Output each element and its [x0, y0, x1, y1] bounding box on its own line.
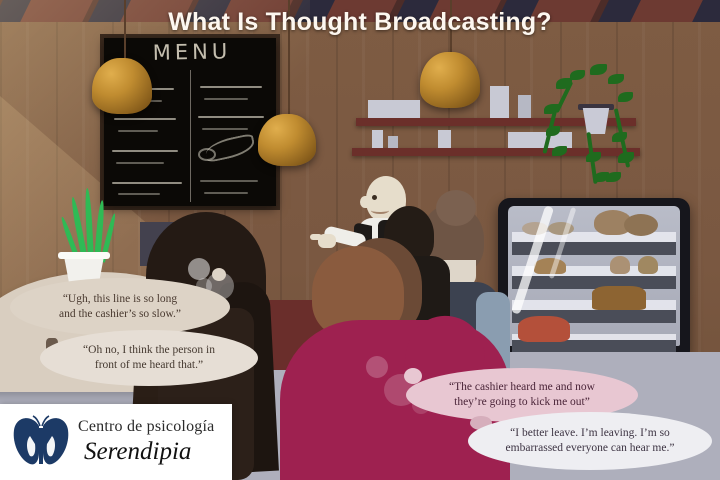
bubble-2-line-1: “Oh no, I think the person in	[83, 343, 215, 358]
shelf-jar-3	[372, 130, 383, 148]
shelf-jar-1	[490, 86, 509, 118]
logo-line-2: Serendipia	[84, 438, 191, 466]
pendant-lamp-3	[420, 52, 480, 108]
speech-bubble-2: “Oh no, I think the person in front of m…	[40, 330, 258, 386]
pastry-item	[638, 256, 658, 274]
shelf-jar-2	[518, 95, 531, 118]
speech-bubble-1: “Ugh, this line is so long and the cashi…	[10, 278, 230, 336]
bubble-3-line-2: they’re going to kick me out”	[449, 395, 595, 410]
page-title: What Is Thought Broadcasting?	[0, 8, 720, 37]
bubble-3-line-1: “The cashier heard me and now	[449, 380, 595, 395]
bubble-4-line-2: embarrassed everyone can hear me.”	[506, 441, 675, 456]
pastry-item	[518, 316, 570, 342]
pendant-lamp-1	[92, 58, 152, 114]
bubble-1-line-2: and the cashier’s so slow.”	[59, 307, 181, 322]
bubble-1-line-1: “Ugh, this line is so long	[59, 292, 181, 307]
shelf-box-1	[368, 100, 420, 118]
pendant-lamp-2	[258, 114, 316, 166]
menu-doodle-circle	[198, 148, 216, 161]
bubble-1-tail	[212, 268, 226, 281]
pastry-item	[610, 256, 630, 274]
logo-line-1: Centro de psicología	[78, 418, 214, 436]
plant-pot-rim	[58, 252, 110, 259]
pastry-item	[592, 286, 646, 310]
butterfly-icon	[10, 412, 72, 472]
illustration-canvas: MENU	[0, 0, 720, 480]
bubble-4-line-1: “I better leave. I’m leaving. I’m so	[506, 426, 675, 441]
menu-column-divider	[190, 70, 191, 202]
bubble-2-line-2: front of me heard that.”	[83, 358, 215, 373]
light-orb	[188, 258, 210, 280]
shelf-jar-5	[438, 130, 451, 148]
case-shelf-2	[512, 276, 676, 289]
shelf-jar-4	[388, 136, 398, 148]
pastry-item	[624, 214, 658, 236]
speech-bubble-4: “I better leave. I’m leaving. I’m so emb…	[468, 412, 712, 470]
